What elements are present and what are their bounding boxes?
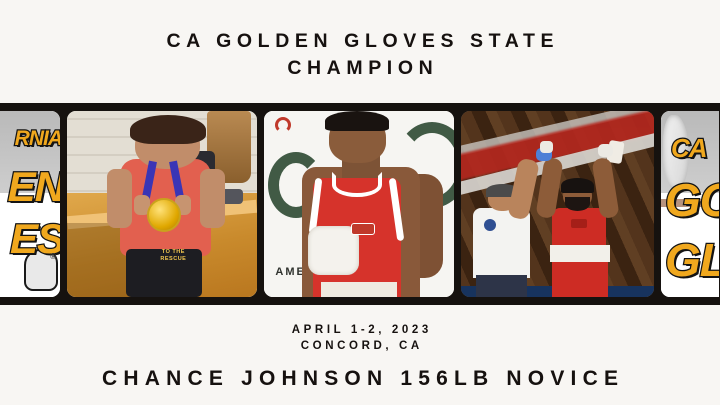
headline-line-1: CA GOLDEN GLOVES STATE [161, 28, 559, 55]
logo-word-california: RNIA [15, 127, 60, 151]
poster-canvas: CA GOLDEN GLOVES STATE CHAMPION RNIA EN … [0, 0, 720, 405]
registered-mark: ® [50, 252, 56, 261]
gold-medal-icon [147, 198, 181, 232]
headline-line-2: CHAMPION [282, 55, 439, 82]
logo-word-ca: CA [671, 133, 707, 164]
shirt-text-line-2: RESCUE [132, 256, 216, 263]
photo-logo-right: CA GO GL [661, 111, 719, 297]
photo-toddler-medal: TO THE RESCUE [67, 111, 257, 297]
photo-logo-left: RNIA EN ES ® [0, 111, 60, 297]
event-location: CONCORD, CA [297, 338, 423, 354]
california-golden-gloves-logo-icon-right: CA GO GL [661, 111, 719, 297]
singlet-logo [351, 223, 375, 235]
logo-word-go: GO [665, 173, 719, 227]
event-date: APRIL 1-2, 2023 [288, 322, 432, 338]
headline-block: CA GOLDEN GLOVES STATE CHAMPION [0, 0, 720, 103]
shirt-text-line-1: TO THE [132, 249, 216, 256]
photo-strip: RNIA EN ES ® [0, 103, 720, 305]
photo-victory-raise [461, 111, 654, 297]
footer-block: APRIL 1-2, 2023 CONCORD, CA CHANCE JOHNS… [0, 305, 720, 405]
shirt-text: TO THE RESCUE [132, 249, 216, 263]
photo-boxer-portrait: AMERICAN [264, 111, 454, 297]
logo-word-gl: GL [665, 233, 719, 287]
logo-word-golden: EN [8, 163, 60, 211]
athlete-name-line: CHANCE JOHNSON 156LB NOVICE [96, 367, 624, 391]
california-golden-gloves-logo-icon: RNIA EN ES ® [0, 111, 60, 297]
